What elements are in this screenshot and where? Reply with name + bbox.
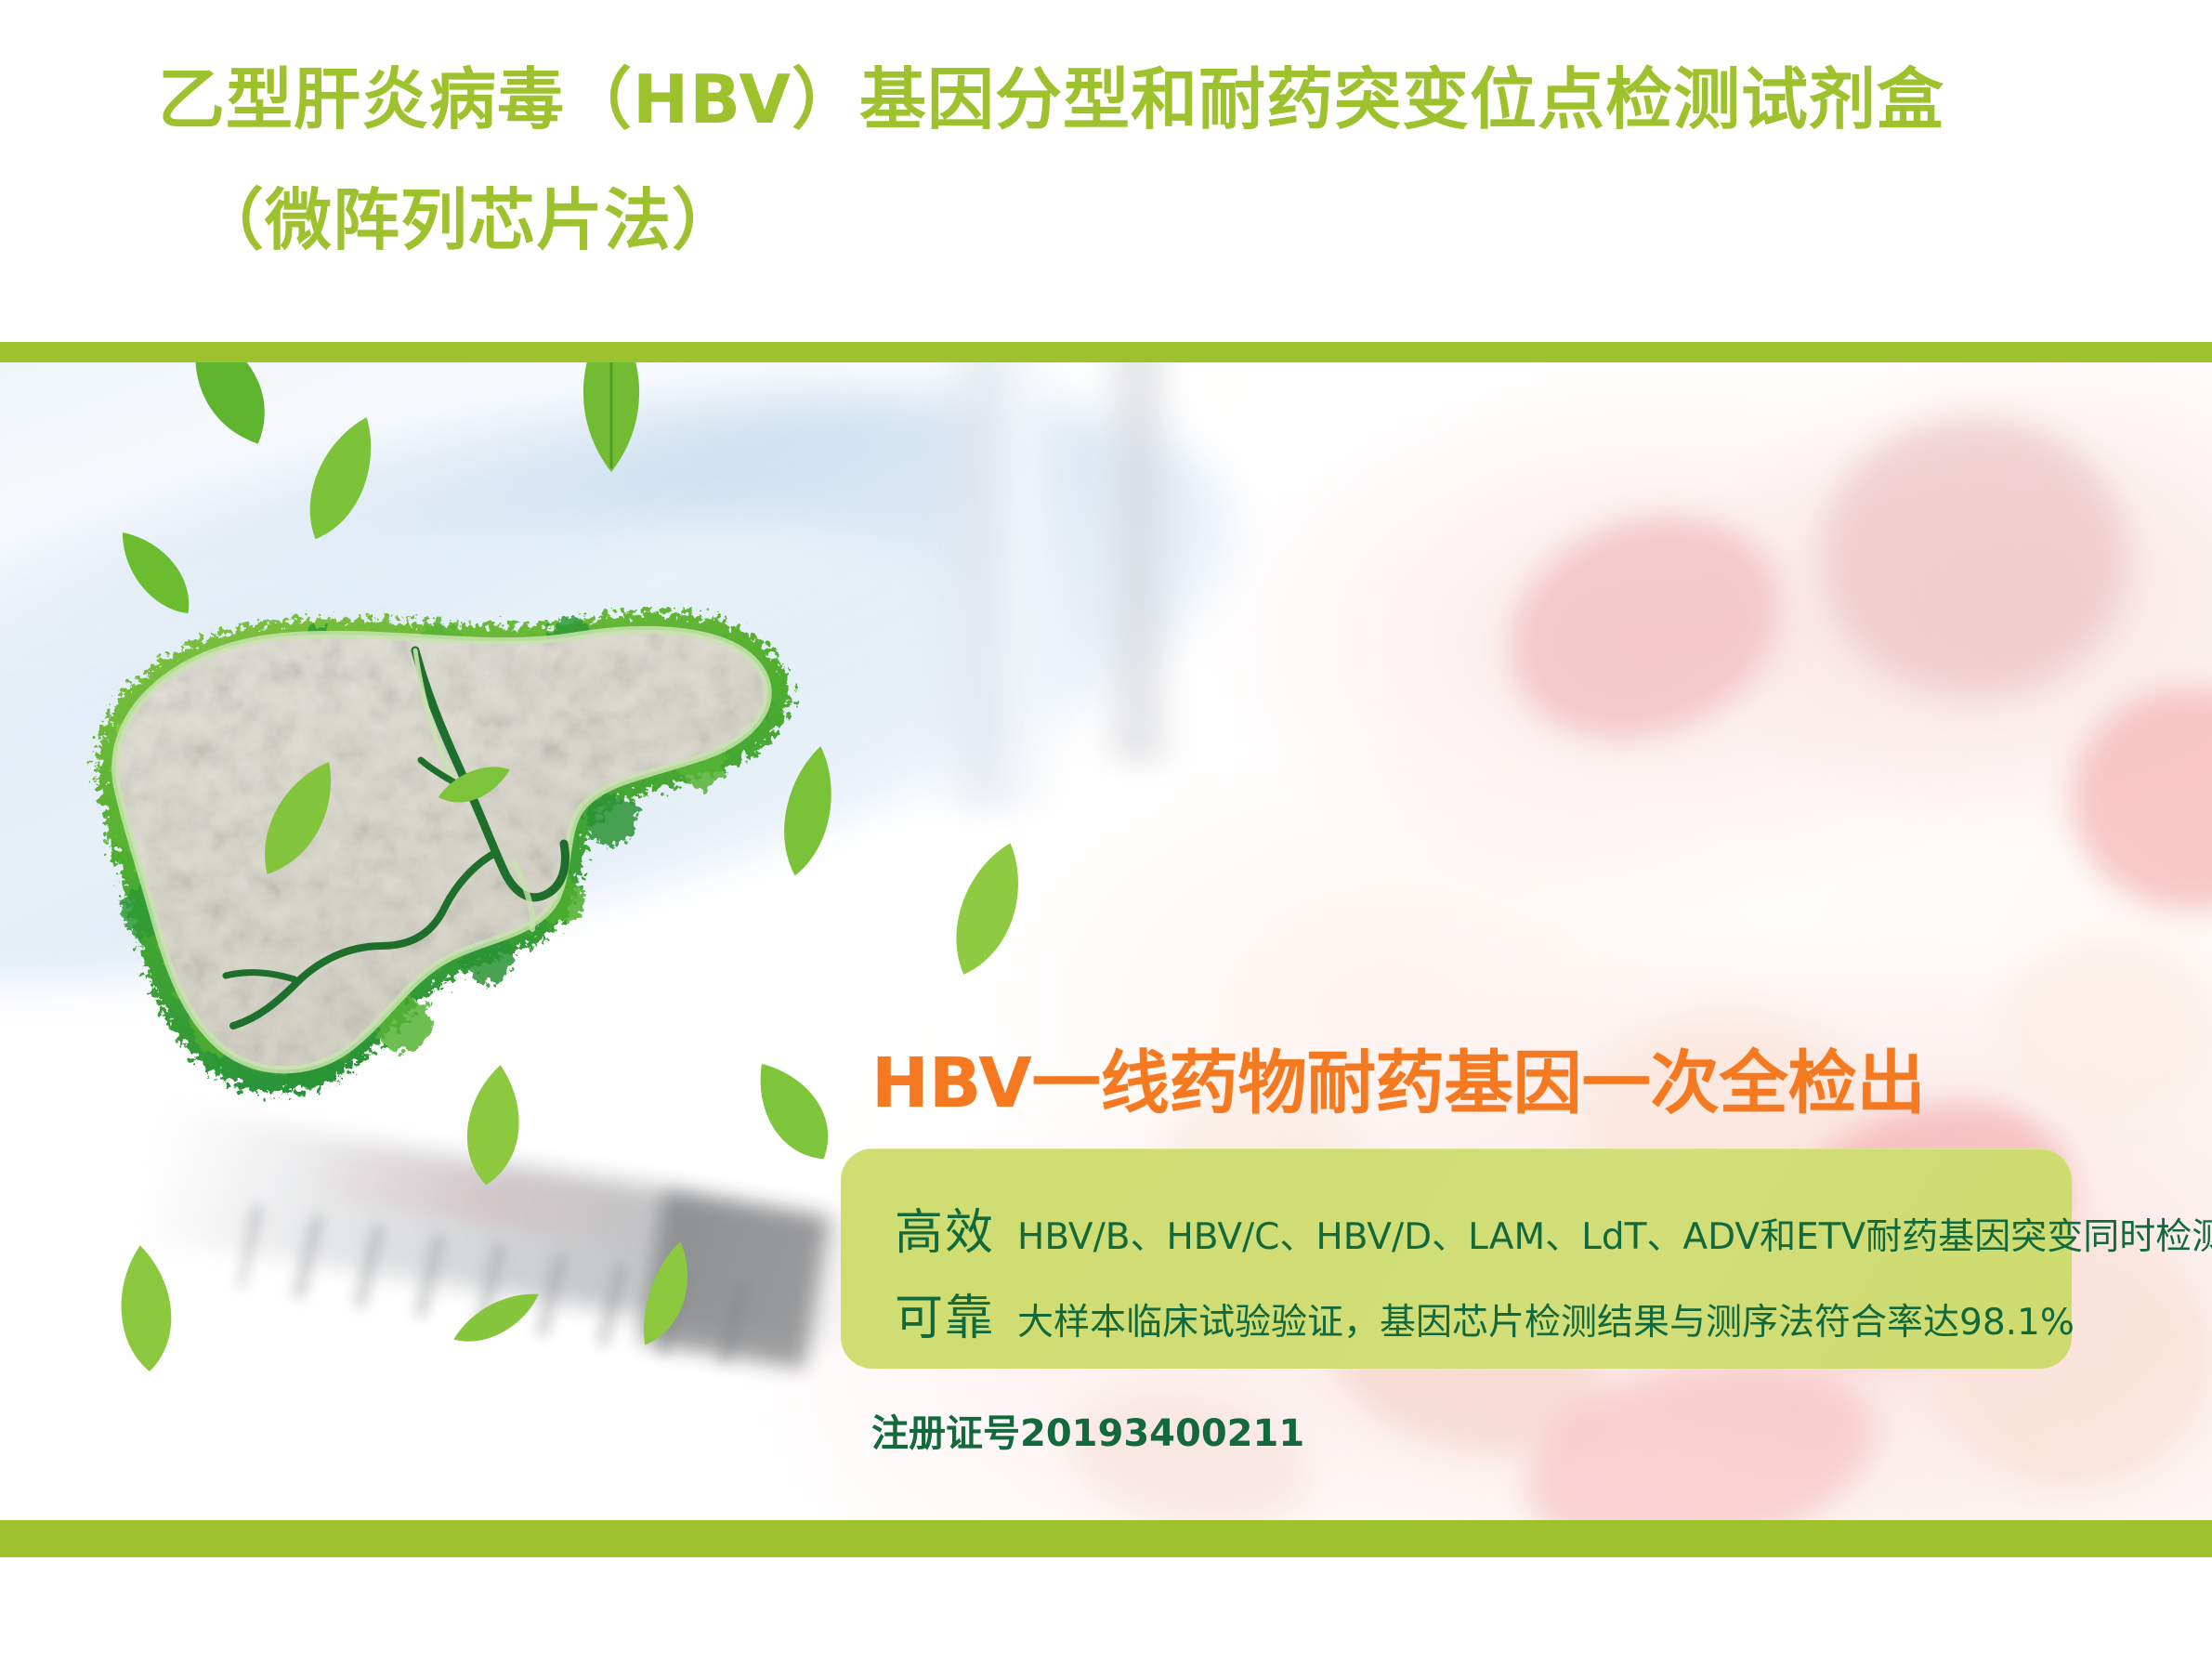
background-pill-10 bbox=[1997, 938, 2212, 1124]
page-header: 乙型肝炎病毒（HBV）基因分型和耐药突变位点检测试剂盒 （微阵列芯片法） bbox=[0, 0, 2212, 342]
background-pill-2 bbox=[1821, 418, 2127, 697]
registration-number: 注册证号20193400211 bbox=[871, 1403, 1304, 1457]
page-title-line-2: （微阵列芯片法） bbox=[197, 165, 740, 263]
background-lab-tube bbox=[938, 362, 1068, 808]
feature-tag: 可靠 bbox=[895, 1279, 995, 1348]
top-green-divider bbox=[0, 342, 2212, 362]
feature-highlight-box: 高效 HBV/B、HBV/C、HBV/D、LAM、LdT、ADV和ETV耐药基因… bbox=[841, 1148, 2072, 1369]
floating-leaf-1 bbox=[556, 362, 667, 476]
feature-tag: 高效 bbox=[895, 1193, 995, 1263]
background-pill-3 bbox=[2072, 688, 2212, 911]
hero-headline: HBV一线药物耐药基因一次全检出 bbox=[871, 1028, 1926, 1127]
background-lab-tube-secondary bbox=[1096, 362, 1180, 762]
floating-leaf-12 bbox=[604, 1233, 734, 1366]
page-title-line-1: 乙型肝炎病毒（HBV）基因分型和耐药突变位点检测试剂盒 bbox=[158, 45, 1944, 142]
floating-leaf-10 bbox=[93, 1235, 200, 1384]
bottom-green-divider bbox=[0, 1520, 2212, 1557]
hero-banner: HBV一线药物耐药基因一次全检出 高效 HBV/B、HBV/C、HBV/D、LA… bbox=[0, 362, 2212, 1520]
feature-text: HBV/B、HBV/C、HBV/D、LAM、LdT、ADV和ETV耐药基因突变同… bbox=[1017, 1208, 2212, 1260]
floating-leaf-13 bbox=[918, 824, 1061, 997]
page-footer bbox=[0, 1557, 2212, 1666]
feature-text: 大样本临床试验验证，基因芯片检测结果与测序法符合率达98.1% bbox=[1017, 1293, 2075, 1345]
background-pill-1 bbox=[1475, 476, 1813, 779]
floating-leaf-11 bbox=[439, 1277, 554, 1361]
floating-leaf-9 bbox=[438, 1055, 553, 1195]
floating-leaf-2 bbox=[149, 362, 312, 471]
feature-row: 可靠 大样本临床试验验证，基因芯片检测结果与测序法符合率达98.1% bbox=[841, 1279, 2072, 1348]
feature-row: 高效 HBV/B、HBV/C、HBV/D、LAM、LdT、ADV和ETV耐药基因… bbox=[841, 1193, 2072, 1263]
